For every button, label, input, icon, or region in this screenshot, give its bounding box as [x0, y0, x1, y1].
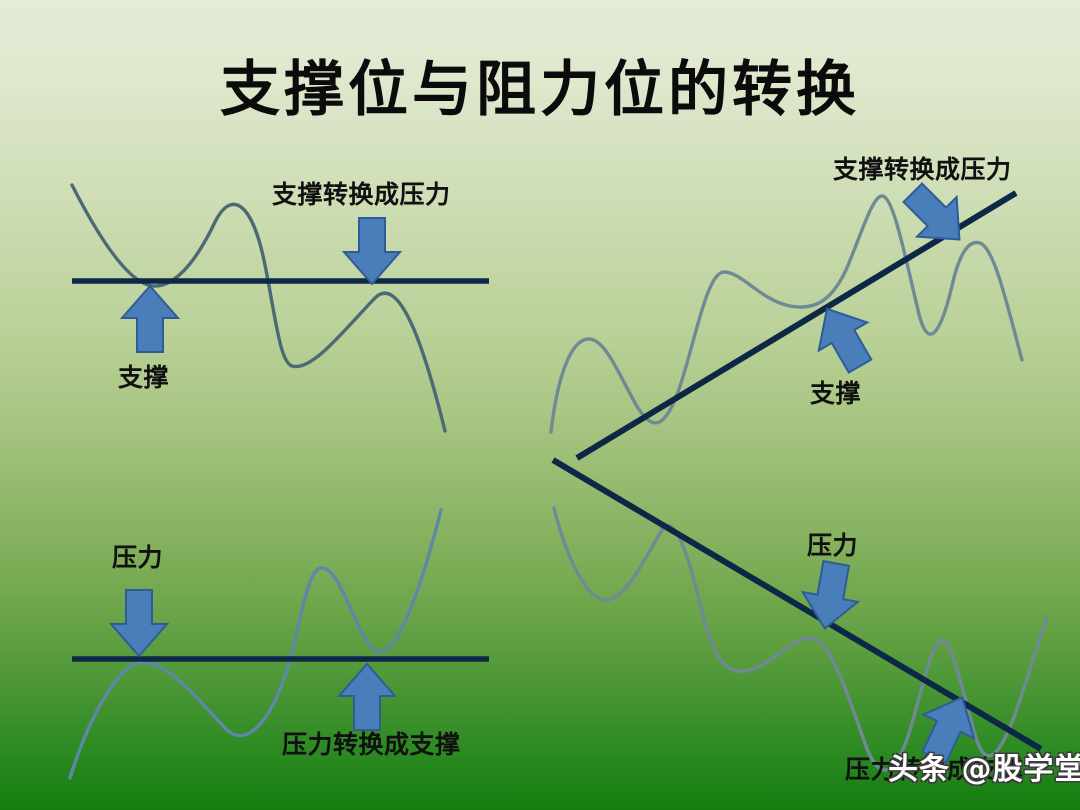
- page-title: 支撑位与阻力位的转换: [0, 54, 1080, 126]
- label-bottom-left-conversion: 压力转换成支撑: [282, 730, 461, 760]
- watermark: 头条 @股学堂: [888, 752, 1080, 788]
- price-curve-bottom-right: [554, 508, 1047, 770]
- label-bottom-left-resistance: 压力: [112, 543, 163, 573]
- label-top-left-conversion: 支撑转换成压力: [272, 180, 451, 210]
- resistance-down-arrow-bottom-left: [111, 590, 167, 656]
- slide-canvas: 支撑位与阻力位的转换 支撑转换成压力 支撑 压力 压力转换成支撑 支撑转换成压力…: [0, 0, 1080, 810]
- resistance-down-arrow-top-left: [344, 218, 400, 284]
- resistance-down-arrow-bottom-right: [797, 559, 864, 634]
- label-top-left-support: 支撑: [118, 363, 169, 393]
- support-up-arrow-top-right: [803, 295, 884, 380]
- price-curve-top-left: [72, 185, 445, 431]
- panel-bottom-right: [553, 460, 1047, 770]
- panel-top-right: [551, 173, 1022, 458]
- downtrend-line-bottom-right: [553, 460, 1041, 749]
- panel-top-left: [72, 185, 489, 431]
- label-bottom-right-resistance: 压力: [807, 531, 858, 561]
- label-top-right-conversion: 支撑转换成压力: [833, 155, 1012, 185]
- label-top-right-support: 支撑: [810, 379, 861, 409]
- support-up-arrow-bottom-left: [339, 664, 395, 730]
- support-up-arrow-top-left: [122, 286, 178, 352]
